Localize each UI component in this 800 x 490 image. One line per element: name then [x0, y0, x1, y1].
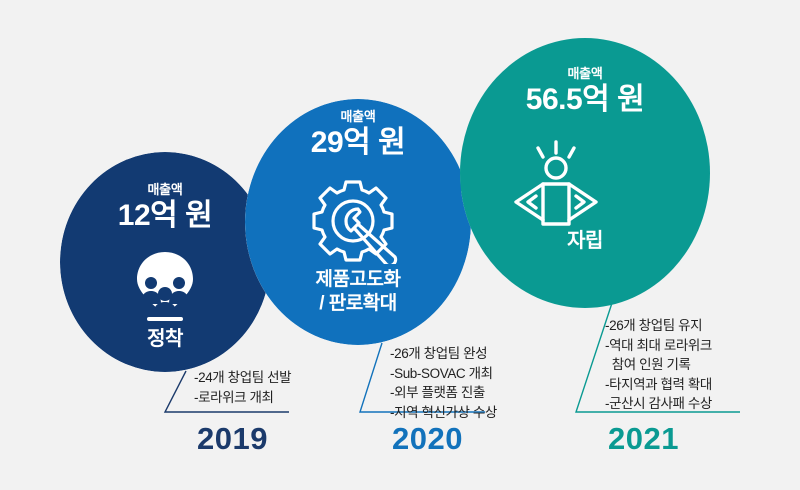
note-item: -26개 창업팀 완성 — [390, 344, 497, 364]
note-item: -타지역과 협력 확대 — [605, 375, 712, 395]
note-item: -로라위크 개최 — [194, 388, 291, 408]
note-item: 참여 인원 기록 — [605, 355, 712, 375]
bubble-2019[interactable] — [60, 152, 270, 372]
year-label-2019: 2019 — [197, 421, 268, 457]
note-item: -Sub-SOVAC 개최 — [390, 364, 497, 384]
bubble-2021[interactable] — [460, 38, 710, 308]
note-item: -외부 플랫폼 진출 — [390, 383, 497, 403]
year-label-2020: 2020 — [392, 421, 463, 457]
note-item: -지역 혁신가상 수상 — [390, 403, 497, 423]
notes-2019: -24개 창업팀 선발 -로라위크 개최 — [194, 368, 291, 407]
note-item: -26개 창업팀 유지 — [605, 316, 712, 336]
bubble-2020[interactable] — [245, 99, 471, 345]
note-item: -군산시 감사패 수상 — [605, 394, 712, 414]
notes-2020: -26개 창업팀 완성 -Sub-SOVAC 개최 -외부 플랫폼 진출 -지역… — [390, 344, 497, 422]
note-item: -역대 최대 로라위크 — [605, 336, 712, 356]
year-label-2021: 2021 — [608, 421, 679, 457]
growth-timeline-infographic: 매출액 12억 원 정착 매출액 29억 원 제품고도화 / 판로확대 매출액 … — [0, 0, 800, 490]
notes-2021: -26개 창업팀 유지 -역대 최대 로라위크 참여 인원 기록 -타지역과 협… — [605, 316, 712, 414]
note-item: -24개 창업팀 선발 — [194, 368, 291, 388]
